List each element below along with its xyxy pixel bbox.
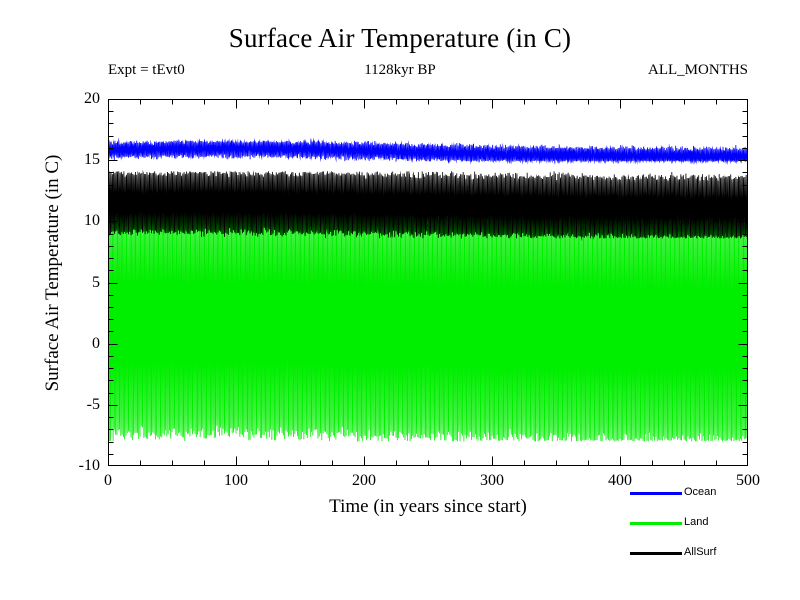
legend-swatch-icon bbox=[630, 552, 682, 555]
legend-label: Land bbox=[684, 514, 708, 531]
legend-item-allsurf: AllSurf bbox=[630, 544, 795, 574]
legend-swatch-icon bbox=[630, 522, 682, 525]
x-tick-label: 300 bbox=[462, 472, 522, 490]
x-tick-label: 0 bbox=[78, 472, 138, 490]
plot-canvas bbox=[108, 99, 748, 466]
legend-item-ocean: Ocean bbox=[630, 484, 795, 514]
legend-swatch-icon bbox=[630, 492, 682, 495]
y-axis-title: Surface Air Temperature (in C) bbox=[42, 83, 68, 463]
legend-item-land: Land bbox=[630, 514, 795, 544]
legend-label: Ocean bbox=[684, 484, 716, 501]
legend-label: AllSurf bbox=[684, 544, 716, 561]
chart-legend: OceanLandAllSurf bbox=[630, 484, 795, 574]
chart-title: Surface Air Temperature (in C) bbox=[0, 24, 800, 52]
x-tick-label: 100 bbox=[206, 472, 266, 490]
chart-figure: Surface Air Temperature (in C) Expt = tE… bbox=[0, 0, 800, 600]
months-label: ALL_MONTHS bbox=[648, 62, 748, 79]
x-tick-label: 200 bbox=[334, 472, 394, 490]
plot-area bbox=[108, 99, 748, 466]
